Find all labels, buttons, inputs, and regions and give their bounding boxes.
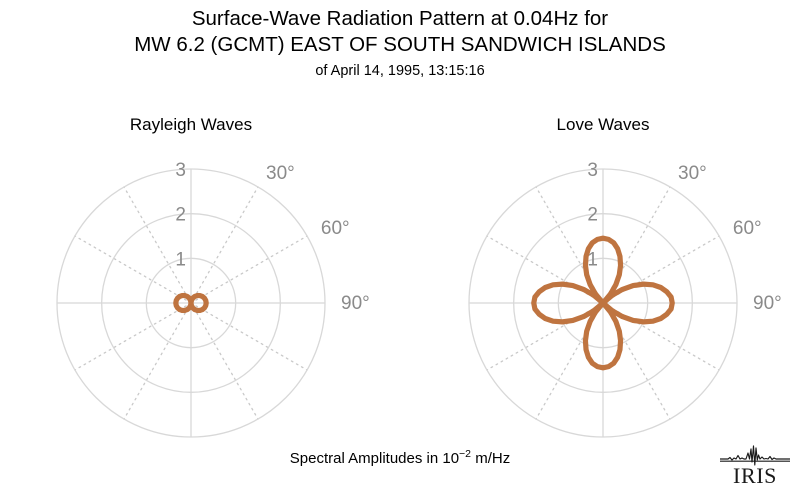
- polar-angle-gridline: [75, 303, 191, 370]
- iris-logo-text: IRIS: [733, 463, 777, 487]
- polar-angle-gridline: [75, 236, 191, 303]
- rayleigh-polar-plot: 12330°60°90°: [57, 160, 370, 437]
- polar-angle-gridline: [191, 303, 307, 370]
- iris-logo: IRIS: [718, 445, 792, 487]
- angle-tick-label: 90°: [341, 293, 370, 314]
- angle-tick-label: 90°: [753, 293, 782, 314]
- angle-tick-label: 30°: [678, 163, 707, 184]
- spectral-amplitude-caption: Spectral Amplitudes in 10−2 m/Hz: [0, 450, 800, 467]
- radial-tick-label: 3: [175, 160, 186, 181]
- angle-tick-label: 30°: [266, 163, 295, 184]
- angle-tick-label: 60°: [321, 218, 350, 239]
- radial-tick-label: 2: [587, 205, 598, 226]
- radial-tick-label: 2: [175, 205, 186, 226]
- caption-suffix: m/Hz: [471, 450, 510, 467]
- love-polar-plot: 12330°60°90°: [469, 160, 782, 437]
- polar-angle-gridline: [191, 236, 307, 303]
- radial-tick-label: 3: [587, 160, 598, 181]
- polar-angle-gridline: [191, 303, 258, 419]
- polar-plots-canvas: 12330°60°90° 12330°60°90°: [0, 0, 800, 493]
- radial-tick-label: 1: [175, 249, 186, 270]
- angle-tick-label: 60°: [733, 218, 762, 239]
- caption-exponent: −2: [459, 448, 471, 460]
- polar-angle-gridline: [191, 187, 258, 303]
- polar-angle-gridline: [124, 303, 191, 419]
- radiation-pattern-figure: Surface-Wave Radiation Pattern at 0.04Hz…: [0, 0, 800, 493]
- caption-prefix: Spectral Amplitudes in 10: [290, 450, 459, 467]
